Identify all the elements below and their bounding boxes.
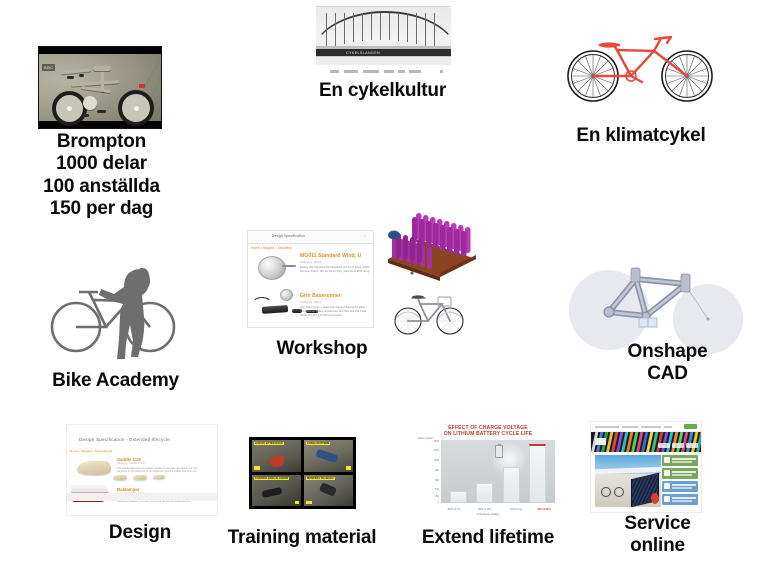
workshop-interior-photo bbox=[595, 455, 661, 507]
video-thumb-4[interactable]: MONTERA TILLBAKA bbox=[304, 475, 353, 507]
chart-bar-0 bbox=[450, 491, 467, 503]
spec-product-category: Category: Motor bbox=[300, 260, 370, 264]
x-tick-2: 70% (4.1V) bbox=[501, 508, 531, 511]
caption-bike-academy: Bike Academy bbox=[38, 370, 193, 392]
chart-x-axis-label: Full Charge Voltage bbox=[417, 513, 559, 516]
photo-caption: CYKELSLANGEN bbox=[346, 51, 380, 55]
wheel-right-icon bbox=[118, 90, 154, 126]
saddle-thumbnails[interactable] bbox=[113, 475, 165, 480]
spec-product-body: Bafang 36V Standard Wind Brushed Hub Fro… bbox=[300, 266, 370, 274]
caption-line: Service bbox=[600, 513, 715, 535]
caption-line: CAD bbox=[590, 363, 745, 385]
design-product-body: The Saddle was tested on a plastic saddl… bbox=[117, 467, 205, 474]
info-card-1[interactable] bbox=[662, 455, 698, 466]
training-material-thumbnails[interactable]: HUR DU BYTER DÄCK LOSSA MUTTERN KONTROLL… bbox=[249, 437, 356, 509]
design-product-1-text: Saddle C19 Category: Saddle & Grip The S… bbox=[117, 457, 205, 474]
tire-object bbox=[270, 456, 284, 467]
battery-pack-render[interactable] bbox=[372, 203, 480, 281]
menu-item bbox=[672, 443, 684, 448]
red-part bbox=[139, 84, 145, 88]
menu-item bbox=[658, 443, 670, 448]
caption-extend-lifetime: Extend lifetime bbox=[408, 527, 568, 549]
seatpost-part bbox=[101, 70, 104, 92]
y-tick: 800 bbox=[427, 469, 439, 472]
info-card-2[interactable] bbox=[662, 468, 698, 479]
hub-motor-image bbox=[258, 256, 286, 280]
hub-motor-small-image bbox=[280, 289, 293, 301]
red-accent-object bbox=[651, 493, 659, 504]
chart-bar-3 bbox=[529, 444, 546, 503]
hero-banner bbox=[591, 432, 701, 452]
design-specification-page: Design Specification - Extended lifecycl… bbox=[66, 424, 218, 516]
y-tick: 0 bbox=[427, 501, 439, 504]
workshop-spec-card[interactable]: Design Specification › Home > Bagged > E… bbox=[247, 230, 374, 328]
tool-object bbox=[261, 486, 282, 497]
y-tick: 250 bbox=[427, 495, 439, 498]
site-logo[interactable] bbox=[595, 438, 606, 445]
bike-academy-illustration[interactable] bbox=[46, 252, 181, 362]
y-tick: 1600 bbox=[427, 440, 439, 443]
spec-product-name: MG011 Standard Wind, U bbox=[300, 253, 370, 259]
hub-axle bbox=[282, 265, 296, 267]
small-part bbox=[97, 110, 106, 113]
x-tick-3: 60% (4.05V) bbox=[529, 508, 559, 511]
video-caption-bottom bbox=[306, 501, 312, 504]
red-bicycle-icon bbox=[556, 20, 726, 110]
design-spec-screenshot[interactable]: Design Specification - Extended lifecycl… bbox=[66, 424, 218, 516]
spec-tab-more[interactable]: › bbox=[364, 234, 365, 238]
chainring-part bbox=[83, 96, 97, 110]
video-caption: HUR DU BYTER DÄCK bbox=[254, 442, 284, 445]
info-card-3[interactable] bbox=[662, 481, 698, 492]
white-bicycle-photo[interactable] bbox=[392, 288, 466, 338]
cykelkultur-website-screenshot[interactable]: CYKELSLANGEN bbox=[316, 6, 451, 78]
caption-klimatcykel: En klimatcykel bbox=[556, 125, 726, 147]
video-caption-bottom bbox=[295, 501, 299, 504]
slide-canvas: BBC Brompton 1000 delar 100 anställda 15… bbox=[0, 0, 760, 571]
service-website bbox=[590, 421, 702, 513]
video-thumb-3[interactable]: KONTROLLERA SLANGEN bbox=[252, 475, 301, 507]
video-caption: KONTROLLERA SLANGEN bbox=[254, 477, 289, 480]
spec-product-body: Grin Baserunner — Hall Field Oriented Wa… bbox=[300, 306, 370, 317]
x-tick-1: 85% (4.15V) bbox=[470, 508, 500, 511]
chart-bar-1 bbox=[476, 483, 493, 503]
caption-brompton: Brompton 1000 delar 100 anställda 150 pe… bbox=[14, 131, 189, 221]
caption-line: 150 per dag bbox=[14, 198, 189, 220]
caption-onshape-cad: Onshape CAD bbox=[590, 341, 745, 386]
caption-cykelkultur: En cykelkultur bbox=[290, 80, 475, 102]
video-thumb-1[interactable]: HUR DU BYTER DÄCK bbox=[252, 440, 301, 472]
foreground-ground bbox=[316, 56, 451, 65]
y-tick: 600 bbox=[427, 479, 439, 482]
chart-plot-area bbox=[441, 440, 555, 503]
controller-body-image bbox=[262, 305, 288, 314]
design-product-category: Category: Saddle & Grip bbox=[117, 462, 205, 465]
caption-training-material: Training material bbox=[222, 527, 382, 549]
caption-line: online bbox=[600, 535, 715, 557]
caption-line: Onshape bbox=[590, 341, 745, 363]
chart-bar-2 bbox=[503, 467, 520, 503]
y-tick: 1400 bbox=[427, 449, 439, 452]
battery-icon bbox=[495, 445, 503, 458]
hand-object bbox=[319, 482, 337, 497]
woman-with-bicycle-icon bbox=[46, 252, 181, 362]
bridge-photo: CYKELSLANGEN bbox=[316, 6, 451, 65]
spec-tab-bar[interactable]: Design Specification › bbox=[248, 231, 373, 244]
video-still-frame: BBC bbox=[38, 46, 162, 129]
site-menu[interactable] bbox=[658, 443, 698, 448]
service-online-screenshot[interactable] bbox=[590, 421, 702, 513]
caption-line: Brompton bbox=[14, 131, 189, 153]
spec-product-name: Grin Baserunner bbox=[300, 293, 370, 299]
brompton-video-still[interactable]: BBC bbox=[38, 46, 162, 129]
chart-container: EFFECT OF CHARGE VOLTAGE ON LITHIUM BATT… bbox=[417, 424, 559, 516]
y-tick: 400 bbox=[427, 488, 439, 491]
spec-sheet: Design Specification › Home > Bagged > E… bbox=[247, 230, 374, 328]
small-part bbox=[79, 74, 84, 77]
caption-line: 1000 delar bbox=[14, 153, 189, 175]
saddle-image bbox=[77, 461, 111, 475]
pump-object bbox=[315, 449, 338, 463]
spec-product-category: Category: Motor bbox=[300, 300, 370, 304]
video-caption: MONTERA TILLBAKA bbox=[306, 477, 335, 480]
menu-item bbox=[686, 443, 698, 448]
video-caption: LOSSA MUTTERN bbox=[306, 442, 330, 445]
bicycle-in-photo bbox=[601, 485, 623, 497]
disassembled-bike-photo: BBC bbox=[39, 54, 161, 121]
saddle-part bbox=[93, 66, 111, 71]
design-page-title: Design Specification - Extended lifecycl… bbox=[79, 437, 170, 442]
small-part bbox=[67, 76, 74, 79]
video-grid: HUR DU BYTER DÄCK LOSSA MUTTERN KONTROLL… bbox=[249, 437, 356, 509]
caption-workshop: Workshop bbox=[212, 338, 432, 360]
video-thumb-2[interactable]: LOSSA MUTTERN bbox=[304, 440, 353, 472]
x-tick-0: 100% (4.2V) bbox=[439, 508, 469, 511]
design-page-breadcrumb: Home > Bagged > Extended life bbox=[70, 449, 113, 453]
spec-tab-label[interactable]: Design Specification bbox=[272, 234, 305, 238]
chart-title: EFFECT OF CHARGE VOLTAGE ON LITHIUM BATT… bbox=[417, 425, 559, 437]
website-nav-bar[interactable] bbox=[316, 65, 451, 79]
video-caption-bottom bbox=[254, 466, 260, 469]
info-card-4[interactable] bbox=[662, 494, 698, 505]
caption-line: 100 anställda bbox=[14, 176, 189, 198]
klimatcykel-illustration[interactable] bbox=[556, 20, 726, 110]
caption-design: Design bbox=[70, 522, 210, 544]
caption-service-online: Service online bbox=[600, 513, 715, 558]
website-top-bar[interactable] bbox=[591, 422, 701, 432]
spec-breadcrumb: Home > Bagged > Electrified bbox=[251, 246, 292, 250]
bbc-watermark: BBC bbox=[42, 64, 55, 71]
chart-title-line2: ON LITHIUM BATTERY CYCLE LIFE bbox=[417, 431, 559, 437]
booking-cta-button[interactable] bbox=[684, 424, 697, 429]
y-tick: 1000 bbox=[427, 459, 439, 462]
video-caption-bottom bbox=[346, 466, 351, 469]
white-city-bicycle-icon bbox=[392, 288, 466, 338]
page-footer-band bbox=[67, 493, 217, 501]
wheel-left-icon bbox=[52, 91, 87, 126]
small-part bbox=[83, 114, 89, 117]
lithium-cell-array-icon bbox=[372, 203, 480, 281]
battery-cycle-life-chart[interactable]: EFFECT OF CHARGE VOLTAGE ON LITHIUM BATT… bbox=[417, 424, 559, 516]
